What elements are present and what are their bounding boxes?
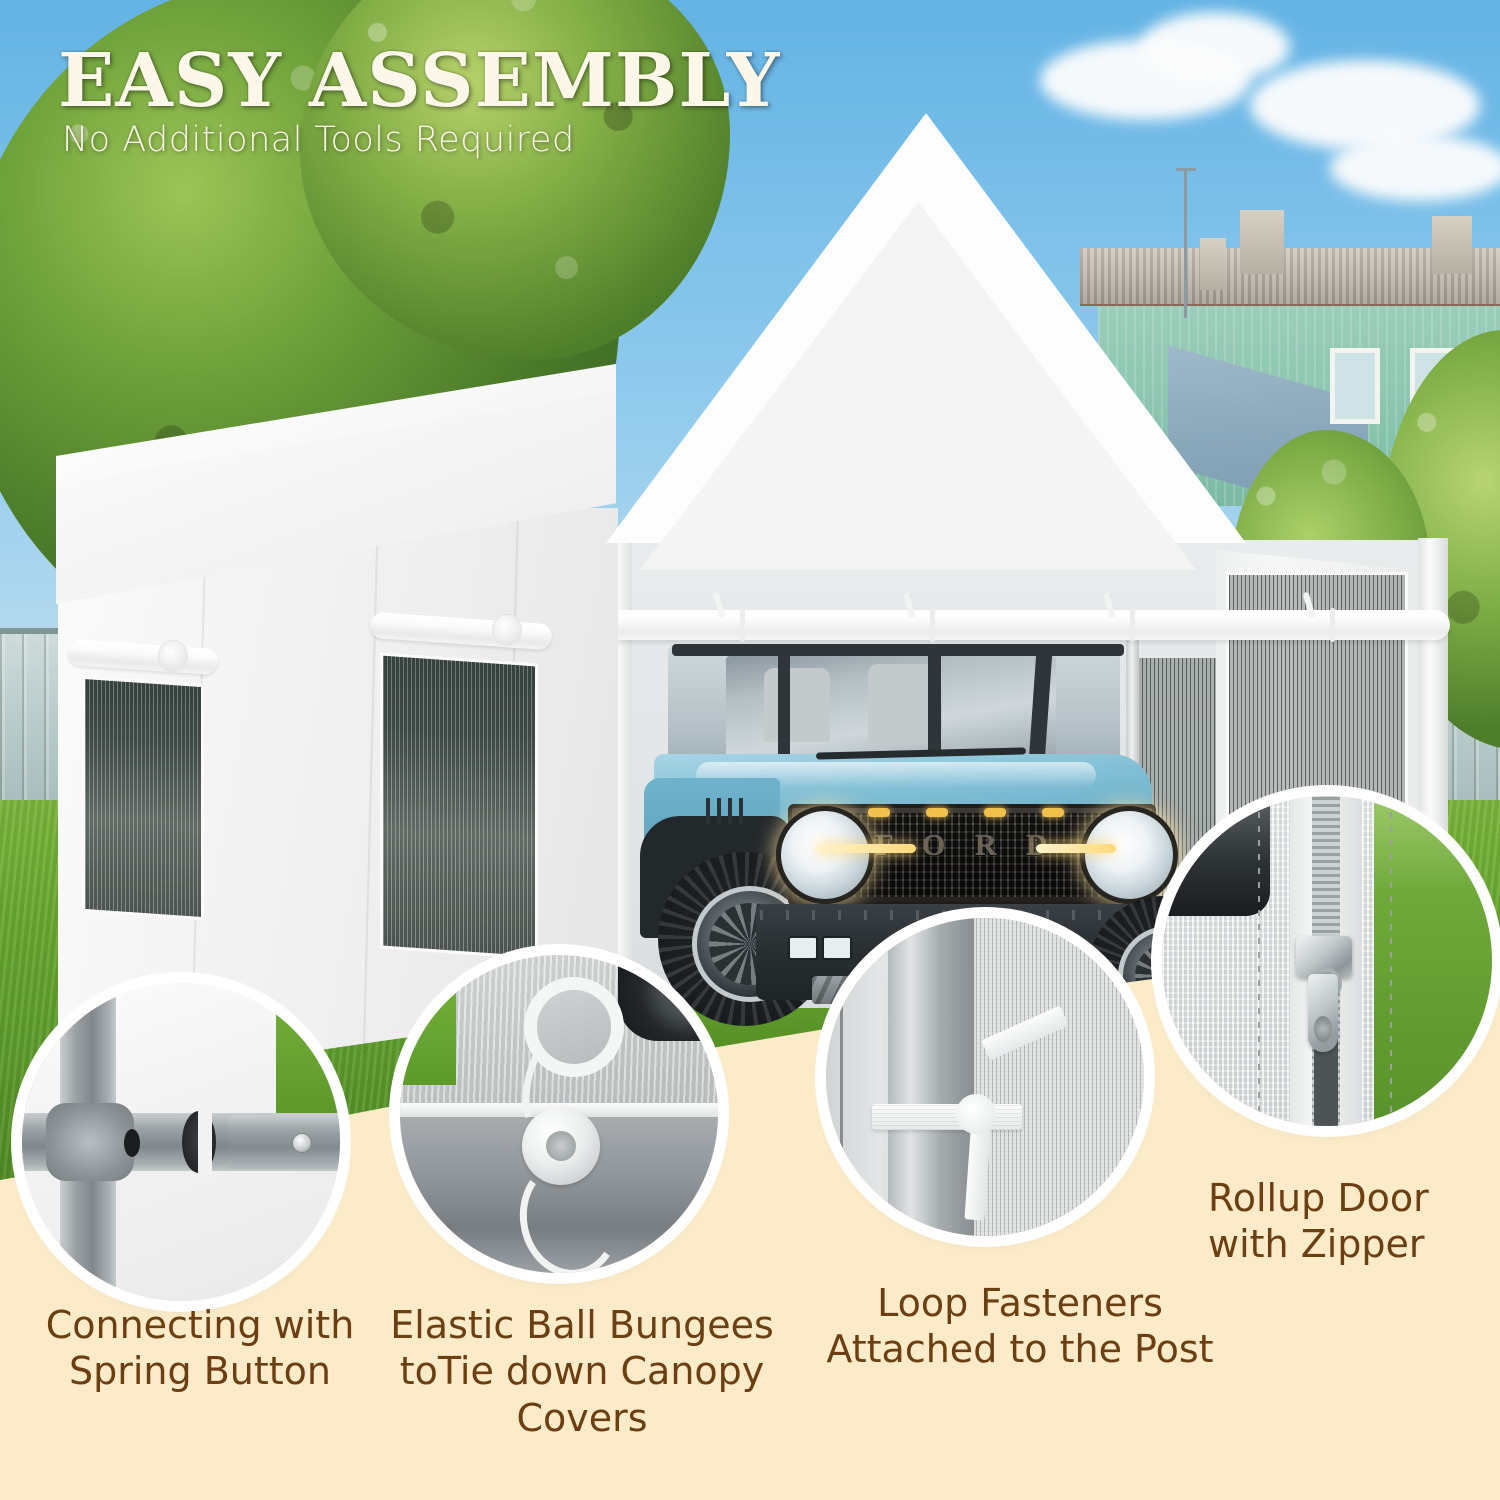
mesh-panel bbox=[976, 918, 1144, 1236]
product-feature-image: F O R D bbox=[0, 0, 1500, 1500]
headline: EASY ASSEMBLY bbox=[58, 38, 781, 124]
fabric-flap bbox=[826, 918, 882, 1236]
feature-caption-spring-button: Connecting with Spring Button bbox=[20, 1302, 380, 1395]
drl-light bbox=[984, 808, 1006, 817]
vehicle-sliver bbox=[1162, 796, 1270, 916]
pole-cross-joint bbox=[46, 1103, 134, 1181]
feature-caption-ball-bungee: Elastic Ball Bungees toTie down Canopy C… bbox=[382, 1302, 782, 1441]
tube-gap bbox=[198, 1109, 212, 1175]
caption-line: toTie down Canopy bbox=[382, 1348, 782, 1394]
ball-toggle-hole bbox=[546, 1131, 576, 1161]
caption-line: Loop Fasteners bbox=[820, 1280, 1220, 1326]
door-roll-strap bbox=[1330, 608, 1335, 642]
mesh-window-left bbox=[82, 676, 204, 921]
drl-light bbox=[1042, 808, 1064, 817]
caption-line: Attached to the Post bbox=[820, 1326, 1220, 1372]
loop-fastener-strap bbox=[872, 1104, 1022, 1130]
spring-button-stud bbox=[292, 1133, 312, 1153]
caption-line: Elastic Ball Bungees bbox=[382, 1302, 782, 1348]
drl-light bbox=[926, 808, 948, 817]
stitch-line bbox=[1258, 796, 1260, 1126]
door-roll-strap bbox=[740, 608, 745, 642]
zipper-pull-hole bbox=[1314, 1016, 1332, 1042]
feature-inset-loop-fastener bbox=[826, 918, 1144, 1236]
canopy-gable-inner bbox=[640, 202, 1196, 570]
caption-line: Spring Button bbox=[20, 1348, 380, 1394]
caption-line: Rollup Door bbox=[1208, 1175, 1500, 1221]
grommet-ring bbox=[524, 977, 624, 1077]
tire-sliver bbox=[618, 955, 718, 1041]
door-roll-strap bbox=[1130, 608, 1135, 642]
door-roll-strap bbox=[930, 608, 935, 642]
headlight bbox=[776, 806, 874, 904]
roof-bar bbox=[672, 644, 1124, 656]
seam-stitch bbox=[840, 918, 843, 1236]
hood-vent bbox=[706, 798, 750, 824]
seat bbox=[764, 668, 830, 742]
feature-inset-spring-button bbox=[22, 983, 340, 1301]
rolled-up-door bbox=[600, 610, 1450, 640]
cloud bbox=[1140, 12, 1290, 82]
steel-pole-segment bbox=[228, 1115, 338, 1169]
caption-line: with Zipper bbox=[1208, 1221, 1500, 1267]
headlight-beam bbox=[816, 844, 916, 853]
caption-line: Covers bbox=[382, 1395, 782, 1441]
subheadline: No Additional Tools Required bbox=[62, 120, 575, 160]
stitch-line bbox=[1390, 796, 1392, 1126]
feature-inset-ball-bungee bbox=[400, 955, 718, 1273]
feature-inset-rollup-zipper bbox=[1162, 796, 1492, 1126]
feature-caption-loop-fastener: Loop Fasteners Attached to the Post bbox=[820, 1280, 1220, 1373]
grass-sliver bbox=[276, 983, 340, 1133]
caption-line: Connecting with bbox=[20, 1302, 380, 1348]
strap-knot bbox=[956, 1094, 996, 1134]
fog-light bbox=[788, 936, 818, 960]
headlight-beam bbox=[1036, 844, 1116, 853]
grass-sliver bbox=[400, 955, 456, 1085]
drl-light bbox=[868, 808, 890, 817]
spring-button-hole bbox=[124, 1129, 140, 1157]
feature-caption-rollup-door: Rollup Door with Zipper bbox=[1208, 1175, 1500, 1268]
steel-post bbox=[888, 918, 974, 1236]
mesh-window-left bbox=[380, 652, 538, 959]
